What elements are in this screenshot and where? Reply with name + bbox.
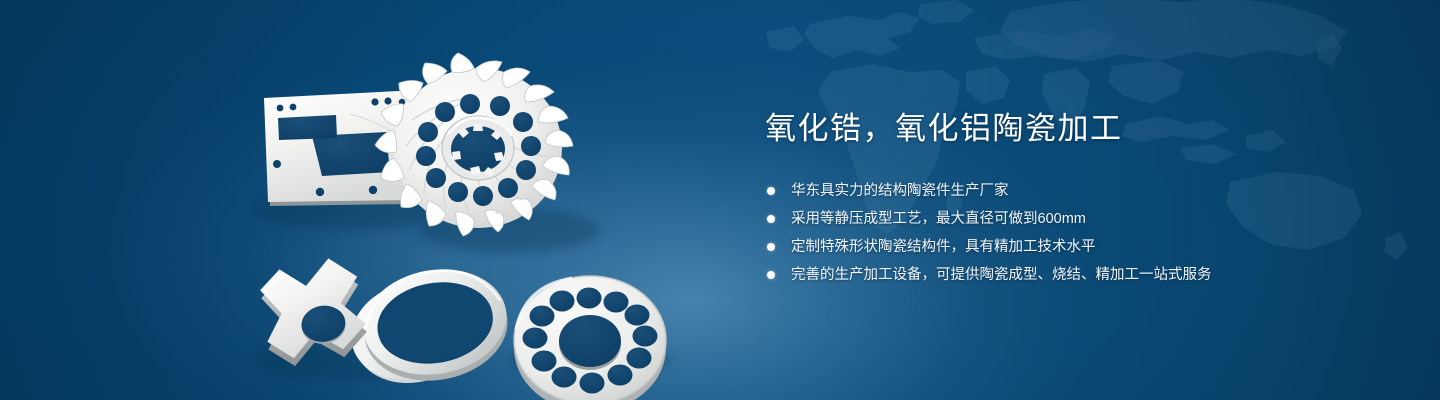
- bullet-dot-icon: [767, 243, 775, 251]
- banner-copy: 氧化锆，氧化铝陶瓷加工 华东具实力的结构陶瓷件生产厂家 采用等静压成型工艺，最大…: [765, 108, 1385, 292]
- hero-banner: 氧化锆，氧化铝陶瓷加工 华东具实力的结构陶瓷件生产厂家 采用等静压成型工艺，最大…: [0, 0, 1440, 400]
- product-cluster: [230, 40, 700, 380]
- feature-text: 定制特殊形状陶瓷结构件，具有精加工技术水平: [791, 239, 1096, 255]
- banner-headline: 氧化锆，氧化铝陶瓷加工: [765, 108, 1385, 150]
- feature-item: 采用等静压成型工艺，最大直径可做到600mm: [767, 208, 1385, 230]
- bullet-dot-icon: [767, 187, 775, 195]
- bullet-dot-icon: [767, 271, 775, 279]
- feature-text: 采用等静压成型工艺，最大直径可做到600mm: [791, 211, 1086, 227]
- feature-text: 完善的生产加工设备，可提供陶瓷成型、烧结、精加工一站式服务: [791, 267, 1212, 283]
- feature-list: 华东具实力的结构陶瓷件生产厂家 采用等静压成型工艺，最大直径可做到600mm 定…: [767, 180, 1385, 286]
- bullet-dot-icon: [767, 215, 775, 223]
- feature-item: 完善的生产加工设备，可提供陶瓷成型、烧结、精加工一站式服务: [767, 264, 1385, 286]
- ceramic-perforated-disc: [514, 276, 666, 400]
- feature-item: 定制特殊形状陶瓷结构件，具有精加工技术水平: [767, 236, 1385, 258]
- feature-text: 华东具实力的结构陶瓷件生产厂家: [791, 183, 1009, 199]
- feature-item: 华东具实力的结构陶瓷件生产厂家: [767, 180, 1385, 202]
